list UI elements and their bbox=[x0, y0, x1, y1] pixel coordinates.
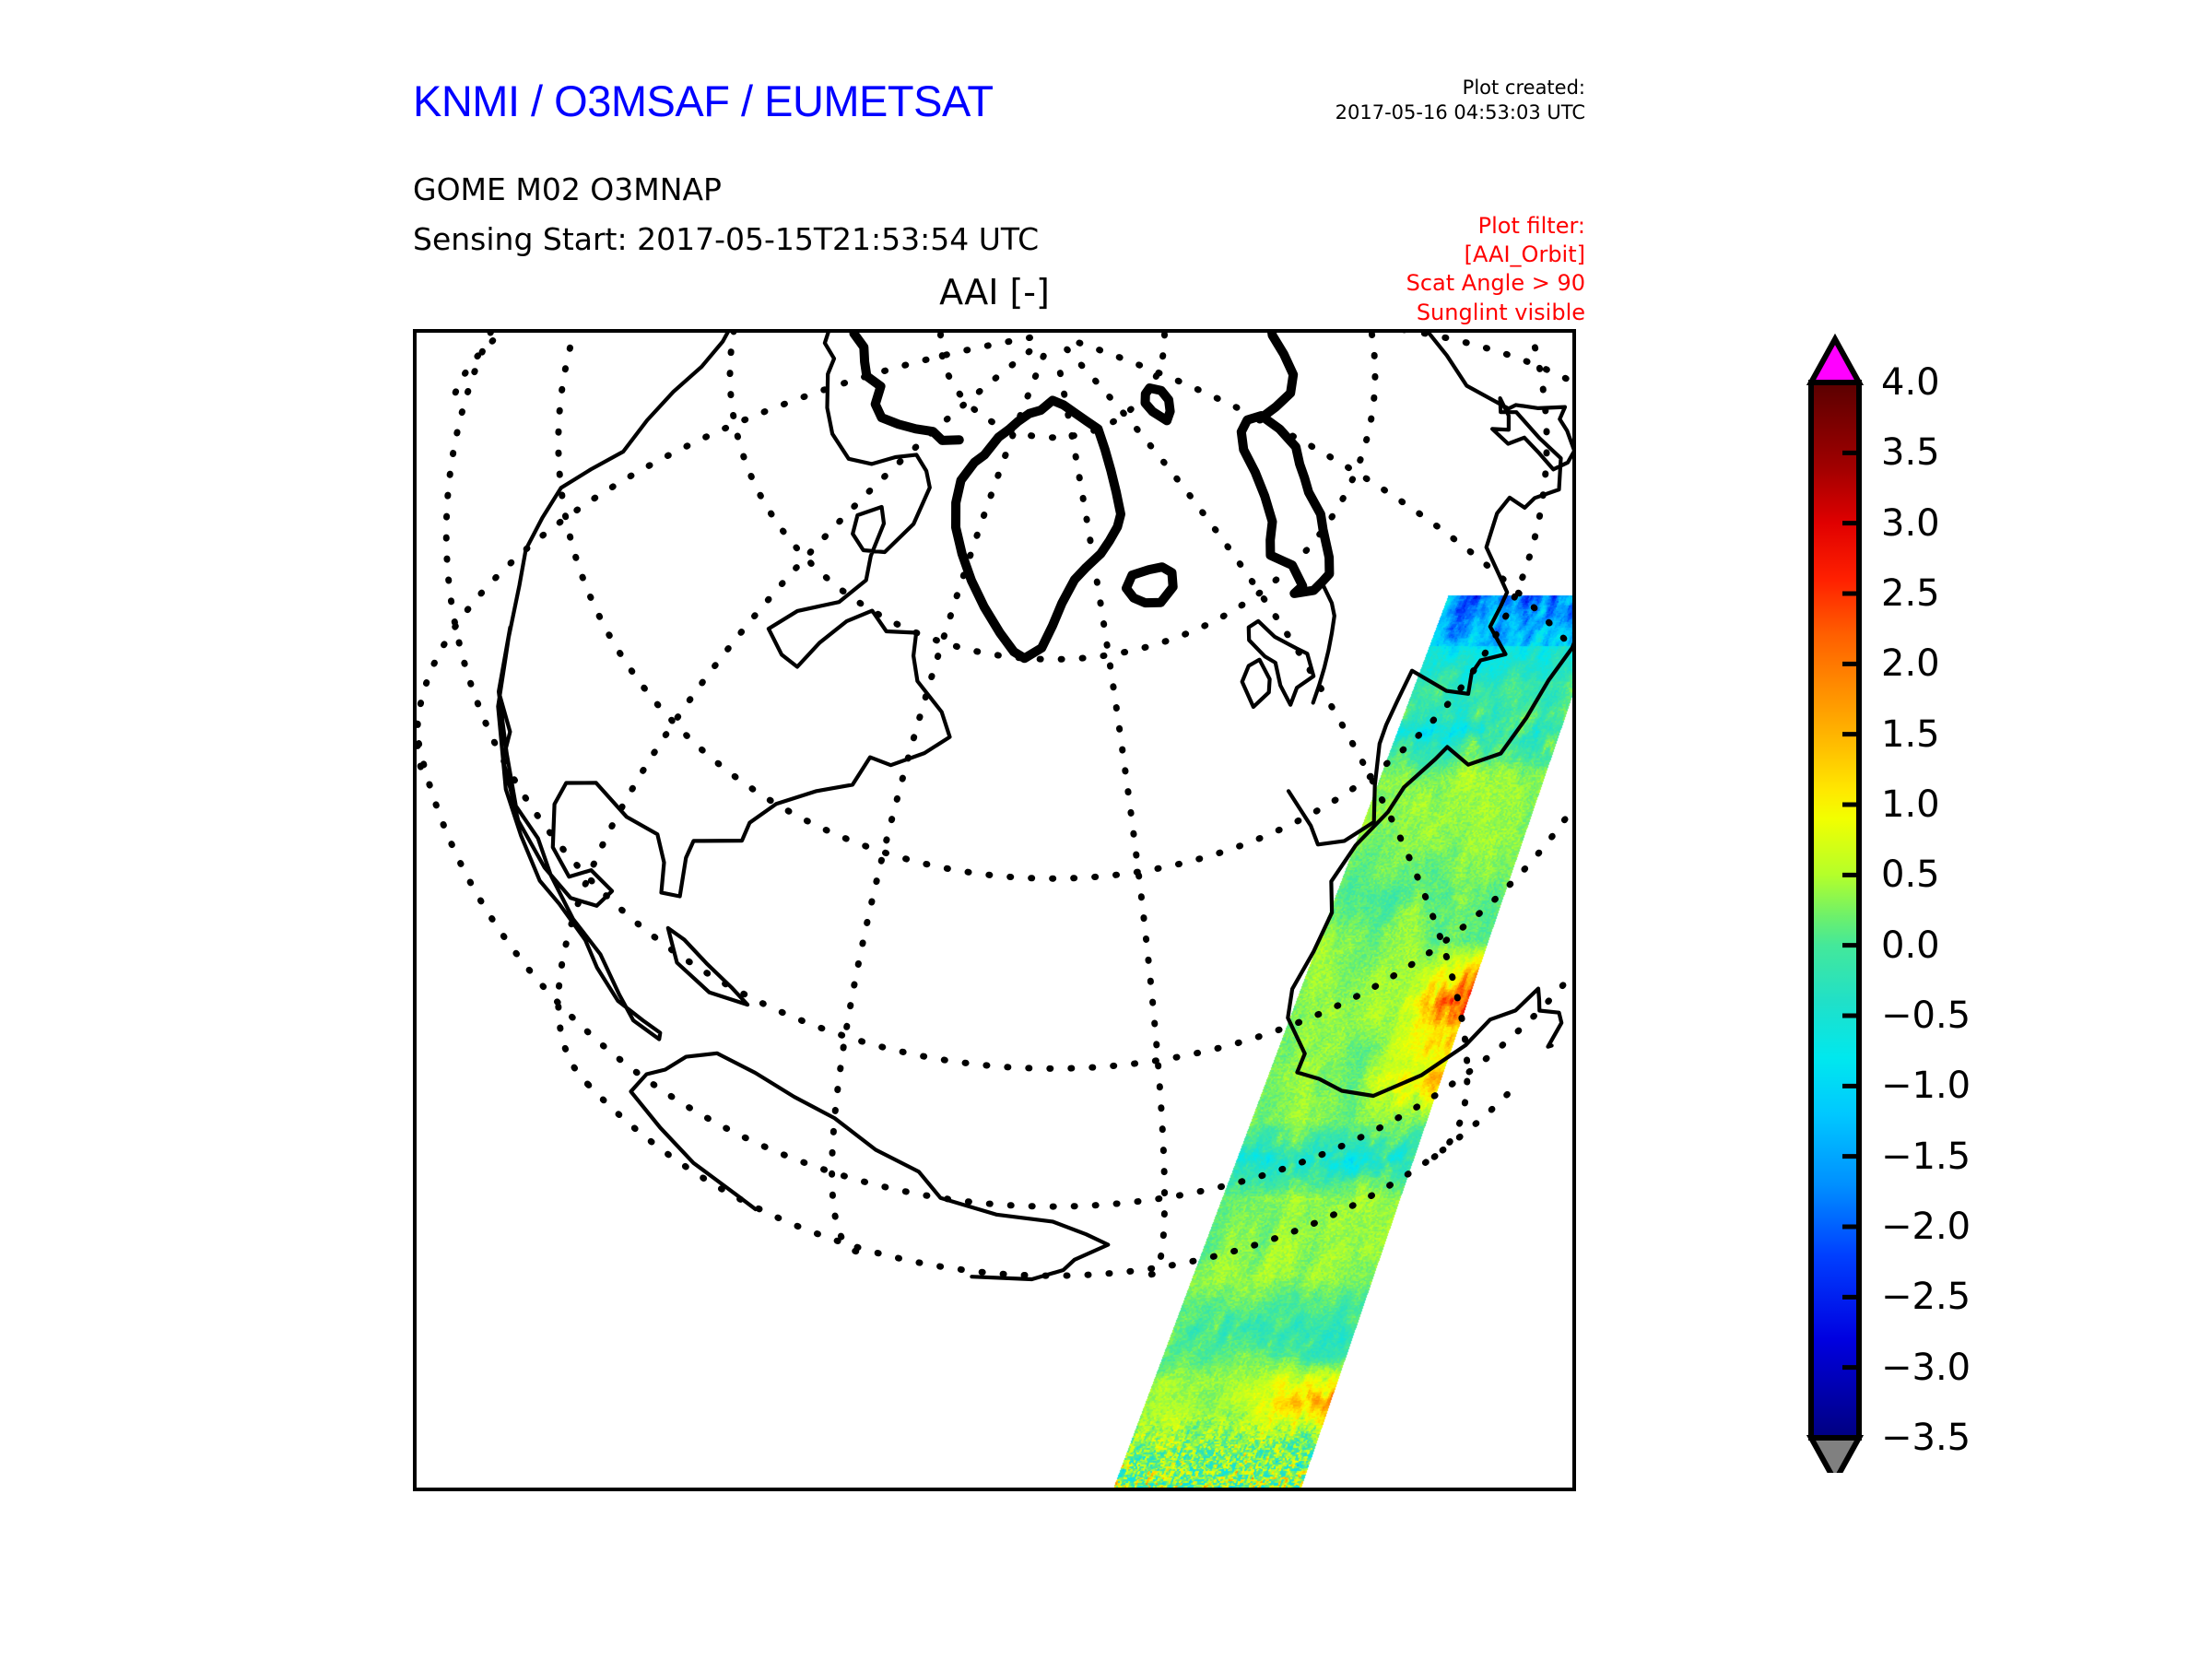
colorbar-tick-label: 2.0 bbox=[1881, 642, 1940, 685]
organisation-title: KNMI / O3MSAF / EUMETSAT bbox=[413, 76, 994, 126]
colorbar-tick-label: 4.0 bbox=[1881, 361, 1940, 404]
sensing-start: Sensing Start: 2017-05-15T21:53:54 UTC bbox=[413, 221, 1039, 257]
map-canvas bbox=[417, 333, 1572, 1488]
aai-swath-raster bbox=[417, 333, 1572, 1488]
colorbar-body bbox=[1811, 382, 1859, 1438]
colorbar-tick-label: −2.5 bbox=[1881, 1276, 1971, 1318]
colorbar-tick-label: −1.0 bbox=[1881, 1065, 1971, 1107]
colorbar-tick-label: −3.0 bbox=[1881, 1347, 1971, 1389]
plot-filter-line-1: [AAI_Orbit] bbox=[1198, 241, 1585, 269]
colorbar-tick-label: −0.5 bbox=[1881, 994, 1971, 1037]
product-name: GOME M02 O3MNAP bbox=[413, 171, 722, 207]
plot-created-timestamp: Plot created: 2017-05-16 04:53:03 UTC bbox=[1198, 76, 1585, 125]
plot-filter-line-0: Plot filter: bbox=[1198, 212, 1585, 241]
colorbar-tick-label: −1.5 bbox=[1881, 1135, 1971, 1178]
colorbar-tick-label: 1.5 bbox=[1881, 713, 1940, 756]
colorbar-tick-label: −2.0 bbox=[1881, 1206, 1971, 1248]
colorbar-under-arrow bbox=[1811, 1438, 1859, 1473]
colorbar: 4.03.53.02.52.01.51.00.50.0−0.5−1.0−1.5−… bbox=[1802, 330, 2023, 1473]
colorbar-tick-label: 2.5 bbox=[1881, 572, 1940, 615]
colorbar-tick-label: 3.0 bbox=[1881, 502, 1940, 545]
colorbar-tick-label: 0.0 bbox=[1881, 924, 1940, 967]
plot-page: KNMI / O3MSAF / EUMETSAT Plot created: 2… bbox=[0, 0, 2212, 1659]
colorbar-tick-label: 3.5 bbox=[1881, 431, 1940, 474]
colorbar-over-arrow bbox=[1811, 339, 1859, 382]
colorbar-tick-label: 1.0 bbox=[1881, 783, 1940, 826]
colorbar-tick-label: −3.5 bbox=[1881, 1417, 1971, 1459]
colorbar-tick-label: 0.5 bbox=[1881, 853, 1940, 896]
map-title: AAI [-] bbox=[413, 272, 1576, 312]
map-panel bbox=[413, 329, 1576, 1491]
